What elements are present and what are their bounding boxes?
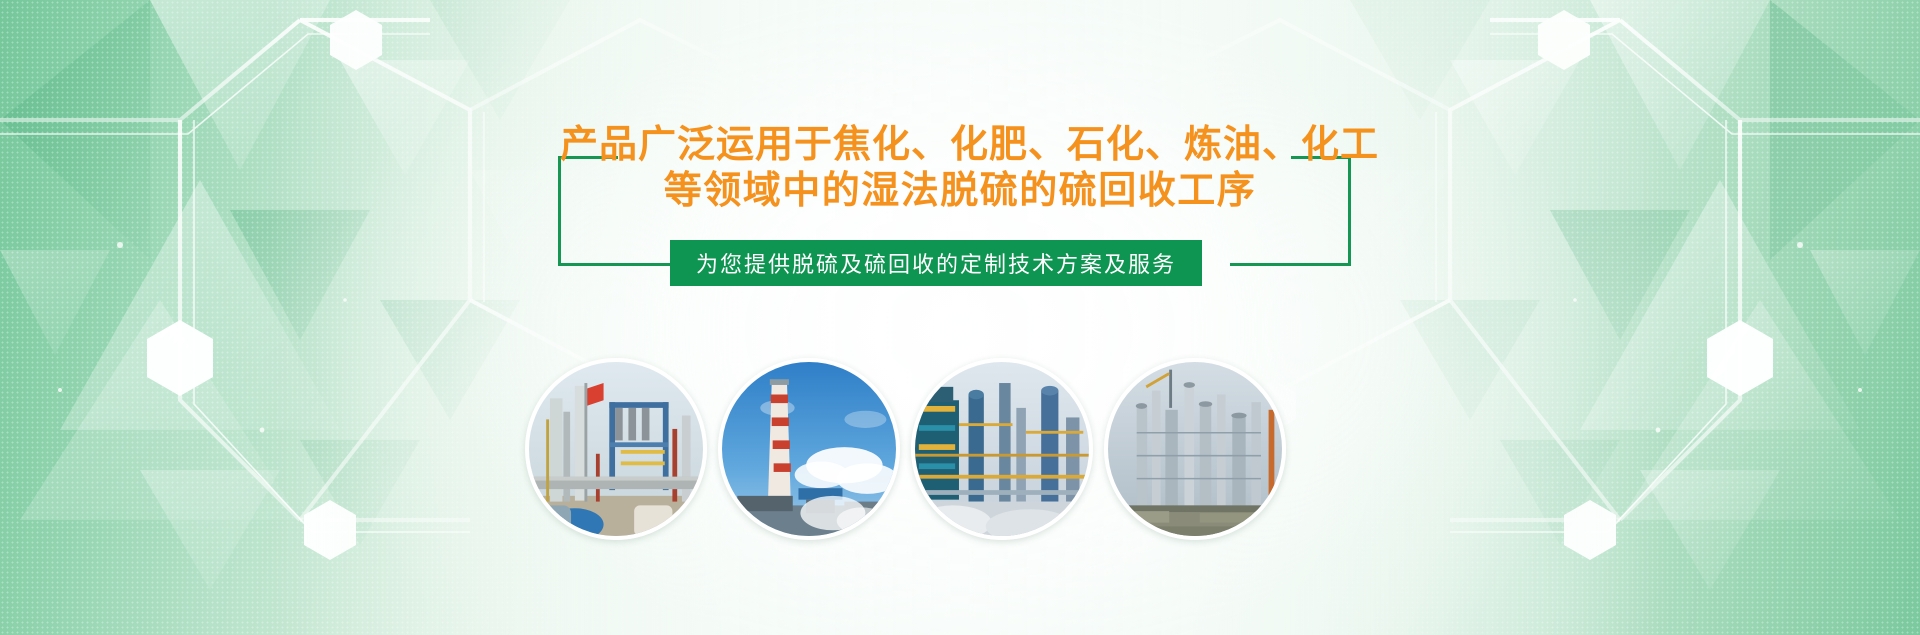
photo-desulfurization-unit-image	[915, 362, 1089, 536]
headline-line-2: 等领域中的湿法脱硫的硫回收工序	[560, 168, 1360, 214]
photo-chimney-stack-plant[interactable]	[718, 358, 900, 540]
subtitle-bar: 为您提供脱硫及硫回收的定制技术方案及服务	[670, 240, 1202, 286]
headline-line-1: 产品广泛运用于焦化、化肥、石化、炼油、化工	[560, 122, 1360, 168]
photo-refinery-towers[interactable]	[1104, 358, 1286, 540]
photo-refinery-towers-image	[1108, 362, 1282, 536]
photo-sulfur-recovery-plant[interactable]	[525, 358, 707, 540]
subtitle-text: 为您提供脱硫及硫回收的定制技术方案及服务	[696, 247, 1176, 279]
photo-sulfur-recovery-plant-image	[529, 362, 703, 536]
headline: 产品广泛运用于焦化、化肥、石化、炼油、化工 等领域中的湿法脱硫的硫回收工序	[560, 122, 1360, 214]
promo-banner: 产品广泛运用于焦化、化肥、石化、炼油、化工 等领域中的湿法脱硫的硫回收工序 为您…	[0, 0, 1920, 635]
photo-circle-row	[0, 358, 1920, 540]
photo-chimney-stack-plant-image	[722, 362, 896, 536]
banner-content: 产品广泛运用于焦化、化肥、石化、炼油、化工 等领域中的湿法脱硫的硫回收工序 为您…	[0, 0, 1920, 635]
bracket-bottom-right-rule	[1230, 263, 1351, 266]
photo-desulfurization-unit[interactable]	[911, 358, 1093, 540]
